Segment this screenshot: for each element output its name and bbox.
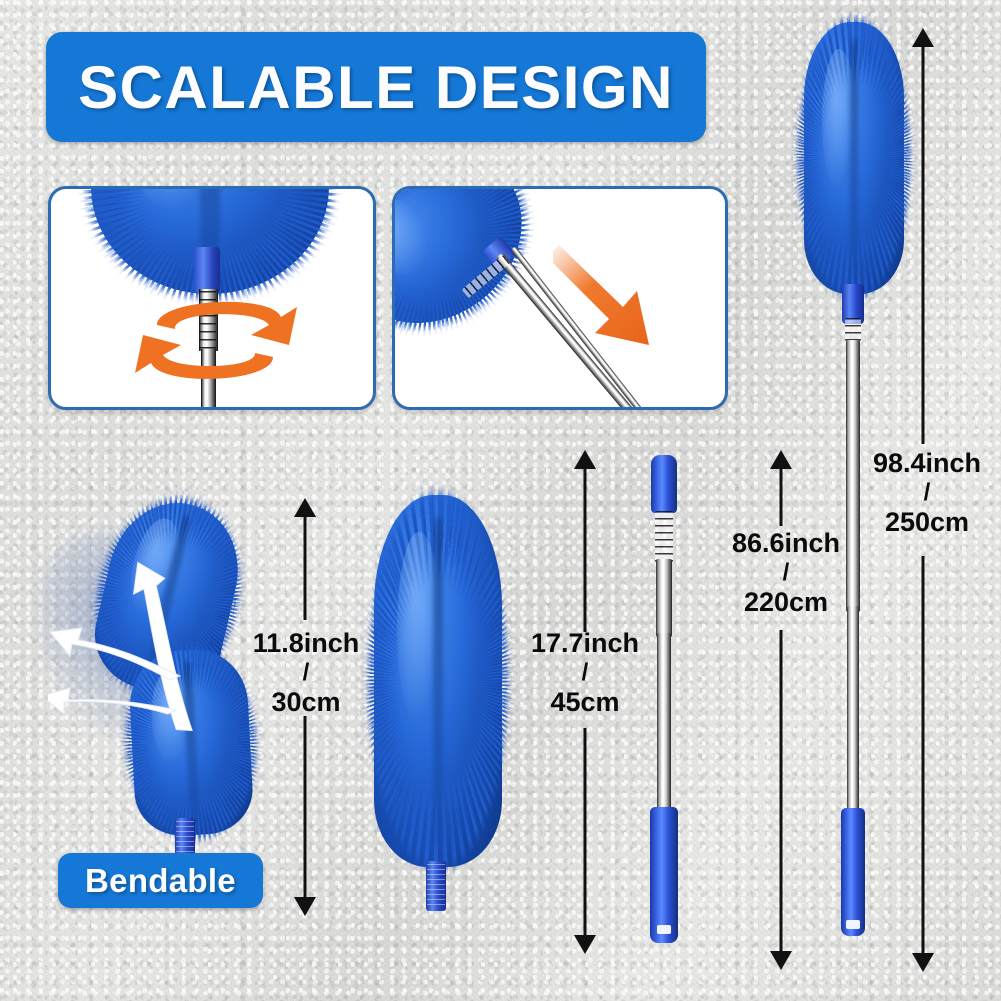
pole-shaft-section-2 (847, 606, 859, 814)
thread-grooves (655, 511, 673, 563)
bendable-badge: Bendable (58, 853, 263, 908)
extend-pole-panel (392, 186, 728, 410)
dimension-label-total: 98.4inch / 250cm (856, 448, 998, 538)
arrow-head-down-icon (294, 897, 316, 916)
screw-connector (426, 861, 446, 911)
dimension-label-pole-collapsed: 17.7inch / 45cm (522, 628, 648, 718)
arrow-head-up-icon (912, 28, 934, 47)
pole-shaft-section-2 (657, 633, 671, 813)
bendable-duster-head (46, 500, 276, 870)
title-banner: SCALABLE DESIGN (46, 32, 706, 142)
collapsed-telescoping-pole (640, 455, 688, 945)
duster-bristles (374, 495, 502, 867)
infographic-canvas: SCALABLE DESIGN (0, 0, 1001, 1001)
rotate-arrows-icon (121, 271, 311, 401)
dimension-label-duster-head: 11.8inch / 30cm (244, 628, 368, 718)
arrow-head-up-icon (294, 498, 316, 517)
pole-top-connector (651, 455, 677, 513)
handle-end-cap (657, 925, 671, 934)
arrow-head-down-icon (770, 951, 792, 970)
arrow-head-up-icon (770, 450, 792, 469)
pole-shaft-section-1 (656, 559, 672, 637)
bend-direction-arrows-icon (48, 556, 228, 746)
bendable-label: Bendable (85, 862, 236, 900)
duster-bristles (804, 22, 904, 294)
arrow-head-down-icon (912, 953, 934, 972)
straight-duster-head (366, 495, 516, 920)
pole-grip-handle (841, 808, 865, 936)
twist-lock-panel (48, 186, 376, 410)
arrow-head-down-icon (574, 935, 596, 954)
arrow-head-up-icon (574, 450, 596, 469)
page-title: SCALABLE DESIGN (78, 53, 674, 122)
handle-end-cap (846, 920, 860, 929)
pole-grip-handle (650, 807, 678, 943)
arrow-down-right-icon (553, 241, 685, 353)
